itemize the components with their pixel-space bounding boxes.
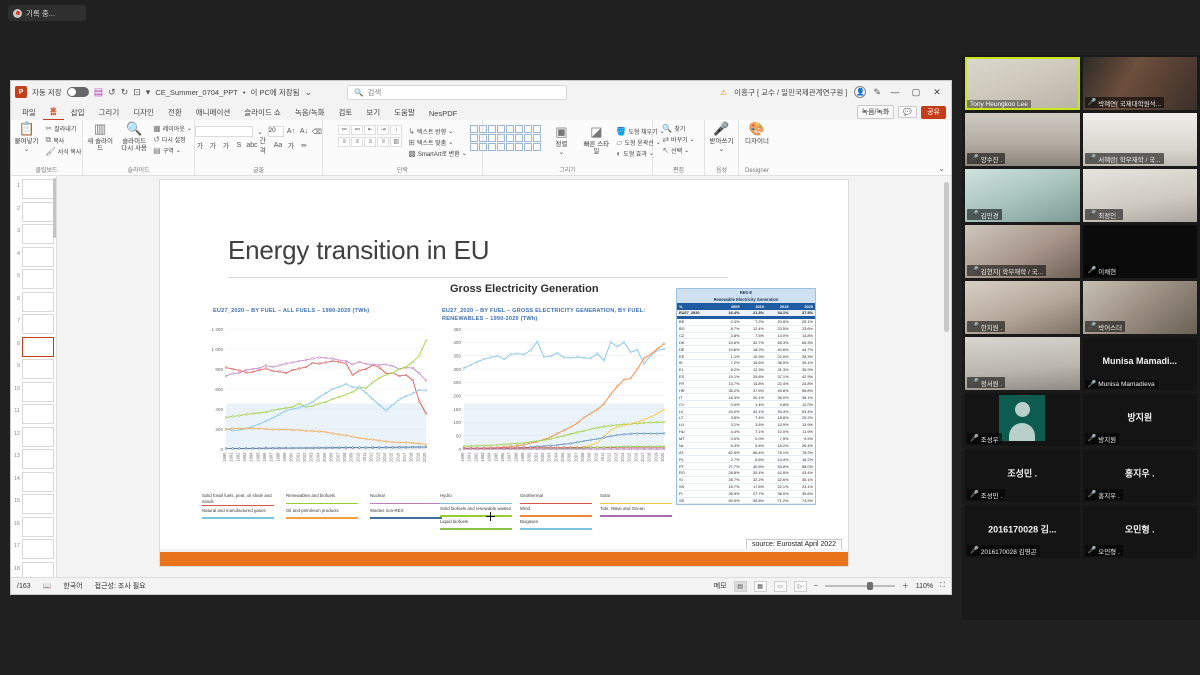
thumbnail-preview xyxy=(22,269,54,289)
align-buttons: ≡ ≡ ≡ ≡ ▥ xyxy=(338,137,402,147)
slide-scrollbar[interactable] xyxy=(943,176,950,577)
align-text-chevron-icon[interactable]: ⌄ xyxy=(448,139,453,146)
table-cell: 28.7% xyxy=(717,476,742,483)
autosave-toggle[interactable] xyxy=(67,87,89,97)
pen-icon[interactable]: ✎ xyxy=(873,87,881,98)
table-cell: CZ xyxy=(677,332,717,339)
fit-to-window-button[interactable]: ⛶ xyxy=(940,582,945,590)
table-cell: LT xyxy=(677,415,717,422)
participant-tile[interactable]: 2016170028 김...🎤2016170028 김영곤 xyxy=(965,505,1080,558)
magnifier-icon: 🔍 xyxy=(662,124,672,133)
legend-swatch xyxy=(202,505,274,506)
chart-all-fuels: 02004006008001 0001 20019901991199219931… xyxy=(200,323,430,483)
slide-thumbnail-8[interactable]: 8 xyxy=(13,337,54,357)
legend-swatch xyxy=(520,503,592,504)
zoom-out-button[interactable]: − xyxy=(814,583,818,590)
slide-thumbnail-9[interactable]: 9 xyxy=(13,359,54,379)
slide-thumbnail-10[interactable]: 10 xyxy=(13,382,54,402)
table-cell: 28.8% xyxy=(717,470,742,477)
table-cell: 15.7% xyxy=(717,483,742,490)
convert-smartart-button[interactable]: ▩ SmartArt로 변환 ⌄ xyxy=(408,149,467,158)
slide-thumbnail-2[interactable]: 2 xyxy=(13,202,54,222)
slide-thumbnail-5[interactable]: 5 xyxy=(13,269,54,289)
participant-tile[interactable]: 방지원🎤방지원 xyxy=(1083,393,1198,446)
participant-tile[interactable]: 조성민 .🎤조성민 . xyxy=(965,449,1080,502)
svg-text:1991: 1991 xyxy=(467,452,472,462)
table-cell: 35.2% xyxy=(717,387,742,394)
slide-thumbnail-pane[interactable]: 123456789101112131415161718 xyxy=(11,176,57,577)
legend-renewables: HydroGeothermalSolarSolid biofuels and r… xyxy=(440,493,672,530)
cut-button[interactable]: ✂ 잘라내기 xyxy=(46,124,82,133)
participant-display-name: 2016170028 김... xyxy=(965,522,1080,535)
table-cell: 9.8% xyxy=(766,401,791,408)
strikethrough-button[interactable]: abc xyxy=(247,140,258,151)
tab-transitions[interactable]: 전환 xyxy=(161,106,189,120)
bold-button[interactable]: 가 xyxy=(195,140,206,151)
svg-text:1992: 1992 xyxy=(235,452,240,462)
legend-swatch xyxy=(286,503,358,504)
find-button[interactable]: 🔍 찾기 xyxy=(662,124,694,133)
table-cell: 3.2% xyxy=(717,421,742,428)
smartart-chevron-icon[interactable]: ⌄ xyxy=(462,150,467,157)
participant-tile[interactable]: Munisa Mamadi...🎤Munisa Mamadieva xyxy=(1083,337,1198,390)
table-cell: 31.3% xyxy=(766,366,791,373)
decrease-font-size-button[interactable]: A↓ xyxy=(299,126,310,137)
svg-text:2014: 2014 xyxy=(382,452,387,462)
thumbnail-preview xyxy=(22,404,54,424)
replace-icon: ⇄ xyxy=(662,135,669,144)
view-normal-button[interactable]: ▤ xyxy=(734,581,747,592)
participant-display-name: 방지원 xyxy=(1083,410,1198,423)
svg-text:2015: 2015 xyxy=(627,452,632,462)
replace-button[interactable]: ⇄ 바꾸기 ⌄ xyxy=(662,135,694,144)
svg-text:2003: 2003 xyxy=(309,452,314,462)
clear-formatting-button[interactable]: ⌫ xyxy=(312,126,323,137)
legend-item: Liquid biofuels xyxy=(440,519,512,530)
columns-button[interactable]: ▥ xyxy=(390,137,402,147)
participant-nametag: Tony Heungkoo Lee xyxy=(967,100,1031,108)
section-chevron-icon[interactable]: ⌄ xyxy=(176,147,181,154)
legend-label: Solid biofuels and renewable wastes xyxy=(440,506,512,515)
table-row: FI26.9%27.7%38.0%39.6% xyxy=(677,490,815,497)
justify-button[interactable]: ≡ xyxy=(377,137,389,147)
text-direction-chevron-icon[interactable]: ⌄ xyxy=(448,128,453,135)
muted-mic-icon: 🎤 xyxy=(1088,547,1097,554)
shape-outline-icon: ▱ xyxy=(616,138,622,147)
legend-item: Renewables and biofuels xyxy=(286,493,358,506)
tab-review[interactable]: 검토 xyxy=(332,106,360,120)
table-row: SI28.7%32.2%32.6%35.1% xyxy=(677,476,815,483)
text-direction-label: 텍스트 방향 xyxy=(417,127,446,136)
present-icon[interactable]: ⊡ xyxy=(133,87,141,98)
svg-text:2020: 2020 xyxy=(422,452,427,462)
align-center-button[interactable]: ≡ xyxy=(351,137,363,147)
slide-thumbnail-1[interactable]: 1 xyxy=(13,179,54,199)
participant-tile[interactable]: 🎤김민경 xyxy=(965,169,1080,222)
status-bar-right: 메모 ▤ ▦ ▭ ▷ − ＋ 110% ⛶ xyxy=(714,581,945,592)
align-right-button[interactable]: ≡ xyxy=(364,137,376,147)
table-cell: BG xyxy=(677,325,717,332)
table-cell: 27.7% xyxy=(741,490,766,497)
table-cell: 55.8% xyxy=(790,387,815,394)
quick-styles-button[interactable]: ◪ 빠른 스타일 xyxy=(581,125,611,156)
thumbnail-number: 13 xyxy=(13,449,20,459)
legend-swatch xyxy=(600,503,672,504)
table-cell: 10.3% xyxy=(741,353,766,360)
participant-display-name: Munisa Mamadi... xyxy=(1083,356,1198,366)
legend-item: Wind xyxy=(520,506,592,517)
tab-draw[interactable]: 그리기 xyxy=(92,106,127,120)
slide-thumbnail-14[interactable]: 14 xyxy=(13,472,54,492)
maximize-button[interactable]: ▢ xyxy=(909,87,923,98)
layout-chevron-icon[interactable]: ⌄ xyxy=(187,125,192,132)
svg-text:2010: 2010 xyxy=(593,452,598,462)
legend-swatch xyxy=(520,528,592,529)
voice-group-label: 음성 xyxy=(705,165,738,174)
table-title-line2: Renewable Electricity Generation xyxy=(677,296,815,303)
thumbnail-number: 9 xyxy=(13,359,20,369)
slide-thumbnail-12[interactable]: 12 xyxy=(13,427,54,447)
participant-tile[interactable]: 🎤정서원 . xyxy=(965,337,1080,390)
slide-thumbnail-6[interactable]: 6 xyxy=(13,292,54,312)
res-e-table[interactable]: RES-E Renewable Electricity Generation %… xyxy=(676,288,816,505)
participant-nametag: 🎤양수진 . xyxy=(967,153,1005,164)
reuse-slides-button[interactable]: 🔍 슬라이드 다시 사용 xyxy=(119,122,149,153)
table-col-3: 2019 xyxy=(766,303,791,310)
participant-name: 방지원 xyxy=(1098,434,1116,444)
table-cell: 18.2% xyxy=(766,442,791,449)
res-e-table-inner: RES-E Renewable Electricity Generation %… xyxy=(677,289,815,504)
table-cell: 37.5% xyxy=(741,387,766,394)
svg-text:250: 250 xyxy=(453,380,461,385)
svg-text:2017: 2017 xyxy=(640,452,645,462)
reset-button[interactable]: ↺ 다시 설정 xyxy=(153,135,192,144)
tab-help[interactable]: 도움말 xyxy=(387,106,422,120)
svg-text:2016: 2016 xyxy=(633,452,638,462)
svg-text:1 200: 1 200 xyxy=(212,327,224,332)
table-cell: 40.6% xyxy=(766,346,791,353)
layout-button[interactable]: ▦ 레이아웃 ⌄ xyxy=(153,124,192,133)
thumbnail-preview xyxy=(22,224,54,244)
table-cell: 18.2% xyxy=(741,346,766,353)
change-case-button[interactable]: Aa xyxy=(273,140,284,151)
table-cell: 32.6% xyxy=(766,476,791,483)
status-bar: /163 📖 한국어 접근성: 조사 필요 메모 ▤ ▦ ▭ ▷ − ＋ 110… xyxy=(11,577,951,594)
undo-icon[interactable]: ↺ xyxy=(108,87,116,98)
select-chevron-icon[interactable]: ⌄ xyxy=(684,147,689,154)
table-cell: 6.6% xyxy=(741,456,766,463)
participant-tile[interactable]: 홍지우 .🎤홍지우 . xyxy=(1083,449,1198,502)
table-cell: 38.0% xyxy=(766,490,791,497)
zoom-in-button[interactable]: ＋ xyxy=(902,581,909,591)
increase-font-size-button[interactable]: A↑ xyxy=(286,126,297,137)
table-cell: 16.3% xyxy=(717,394,742,401)
view-sorter-button[interactable]: ▦ xyxy=(754,581,767,592)
thumbnail-preview xyxy=(22,359,54,379)
svg-text:450: 450 xyxy=(453,327,461,332)
tab-animations[interactable]: 애니메이션 xyxy=(189,106,238,120)
copy-button[interactable]: ⧉ 복사 xyxy=(46,135,82,145)
reuse-slides-icon: 🔍 xyxy=(126,122,142,137)
shadow-button[interactable]: S xyxy=(234,140,245,151)
participant-nametag: 🎤2016170028 김영곤 xyxy=(967,545,1040,556)
legend-item: Geothermal xyxy=(520,493,592,504)
participant-name: 김현지[ 학부재학 / 국... xyxy=(981,266,1043,276)
text-highlight-button[interactable]: ✏ xyxy=(299,140,310,151)
arrange-chevron-icon[interactable]: ⌄ xyxy=(559,149,564,156)
character-spacing-button[interactable]: 간격 xyxy=(260,140,271,151)
accessibility-status[interactable]: 접근성: 조사 필요 xyxy=(95,581,146,591)
ribbon-group-clipboard: 📋 붙여넣기 ⌄ ✂ 잘라내기 ⧉ 복사 xyxy=(11,120,83,175)
new-slide-button[interactable]: ▥ 새 슬라이드 xyxy=(85,122,115,153)
cut-label: 잘라내기 xyxy=(54,124,76,133)
svg-text:1992: 1992 xyxy=(473,452,478,462)
thumbnail-number: 12 xyxy=(13,427,20,437)
document-menu-chevron-icon[interactable]: ⌄ xyxy=(305,87,313,98)
table-cell: 11.9% xyxy=(790,428,815,435)
table-cell: 29.8% xyxy=(741,373,766,380)
table-cell: 62.9% xyxy=(717,449,742,456)
arrange-button[interactable]: ▣ 정렬 ⌄ xyxy=(546,125,576,157)
autosave-label: 자동 저장 xyxy=(32,87,62,98)
table-cell: 26.9% xyxy=(717,490,742,497)
svg-text:150: 150 xyxy=(453,407,461,412)
table-cell: 17.8% xyxy=(741,483,766,490)
thumbnail-preview xyxy=(22,427,54,447)
slide-accent-band xyxy=(160,552,848,566)
svg-text:2014: 2014 xyxy=(620,452,625,462)
table-row: ES19.1%29.8%37.1%42.9% xyxy=(677,373,815,380)
view-slideshow-button[interactable]: ▷ xyxy=(794,581,807,592)
table-cell: 1.1% xyxy=(717,353,742,360)
legend-swatch xyxy=(370,517,442,518)
notes-button[interactable]: 메모 xyxy=(714,581,727,591)
participant-tile[interactable]: 🎤한지원 . xyxy=(965,281,1080,334)
table-row: CY0.0%1.4%9.8%12.0% xyxy=(677,401,815,408)
decrease-indent-button[interactable]: ⇤ xyxy=(364,125,376,135)
svg-text:2007: 2007 xyxy=(573,452,578,462)
participant-tile[interactable]: 🎤양수진 . xyxy=(965,113,1080,166)
svg-text:2020: 2020 xyxy=(660,452,665,462)
thumbnail-number: 17 xyxy=(13,539,20,549)
record-button[interactable]: 녹음/녹화 xyxy=(857,105,895,119)
shapes-gallery[interactable] xyxy=(470,125,541,151)
participant-tile[interactable]: 🎤박어스더 xyxy=(1083,281,1198,334)
increase-indent-button[interactable]: ⇥ xyxy=(377,125,389,135)
paste-chevron-icon[interactable]: ⌄ xyxy=(24,146,29,153)
select-button[interactable]: ↖ 선택 ⌄ xyxy=(662,146,694,155)
zoom-participant-rail: Tony Heungkoo Lee🎤박혜연[ 국제대학원석...🎤양수진 .🎤서… xyxy=(962,55,1200,620)
replace-chevron-icon[interactable]: ⌄ xyxy=(690,136,695,143)
font-name-input[interactable] xyxy=(195,126,253,137)
slide-thumbnail-11[interactable]: 11 xyxy=(13,404,54,424)
align-left-button[interactable]: ≡ xyxy=(338,137,350,147)
table-cell: 49.8% xyxy=(766,387,791,394)
participant-tile[interactable]: 🎤서혜란[ 학부재학 / 국... xyxy=(1083,113,1198,166)
designer-icon: 🎨 xyxy=(749,122,765,137)
table-cell: 42.1% xyxy=(741,408,766,415)
table-cell: 12.4% xyxy=(741,325,766,332)
legend-swatch xyxy=(600,515,672,516)
ribbon-group-editing: 🔍 찾기 ⇄ 바꾸기 ⌄ ↖ 선택 ⌄ xyxy=(653,120,705,175)
tab-view[interactable]: 보기 xyxy=(359,106,387,120)
table-cell: 36.5% xyxy=(766,360,791,367)
recording-indicator[interactable]: 기록 중... xyxy=(8,5,86,21)
ribbon-group-slides: ▥ 새 슬라이드 🔍 슬라이드 다시 사용 ▦ 레이아웃 ⌄ xyxy=(83,120,195,175)
paste-label: 붙여넣기 xyxy=(15,138,39,145)
table-row: DK24.6%32.7%65.3%65.3% xyxy=(677,339,815,346)
svg-text:2018: 2018 xyxy=(647,452,652,462)
participant-tile[interactable]: 오민형 .🎤오민형 . xyxy=(1083,505,1198,558)
smartart-label: SmartArt로 변환 xyxy=(418,149,460,158)
participant-tile[interactable]: 🎤박혜연[ 국제대학원석... xyxy=(1083,57,1198,110)
svg-text:2012: 2012 xyxy=(369,452,374,462)
table-cell: 20.2% xyxy=(790,415,815,422)
spellcheck-icon[interactable]: 📖 xyxy=(43,582,52,590)
tab-insert[interactable]: 삽입 xyxy=(64,106,92,120)
slide-thumbnail-17[interactable]: 17 xyxy=(13,539,54,559)
legend-item: Oil and petroleum products xyxy=(286,508,358,519)
muted-mic-icon: 🎤 xyxy=(1088,267,1097,274)
numbered-list-button[interactable]: ≕ xyxy=(351,125,363,135)
italic-button[interactable]: 가 xyxy=(208,140,219,151)
participant-name: 정서원 . xyxy=(981,378,1003,388)
smartart-icon: ▩ xyxy=(408,149,416,158)
scissors-icon: ✂ xyxy=(46,124,53,133)
participant-nametag: 🎤오민형 . xyxy=(1085,545,1123,556)
underline-button[interactable]: 가 xyxy=(221,140,232,151)
table-body: BE2.4%7.2%20.8%25.1%BG8.7%12.4%23.5%23.6… xyxy=(677,319,815,504)
participant-nametag: 🎤서혜란[ 학부재학 / 국... xyxy=(1085,153,1164,164)
participant-tile[interactable]: 🎤이채현 xyxy=(1083,225,1198,278)
close-button[interactable]: ✕ xyxy=(930,87,944,98)
tab-home[interactable]: 홈 xyxy=(43,105,64,120)
svg-text:2001: 2001 xyxy=(533,452,538,462)
tab-slideshow[interactable]: 슬라이드 쇼 xyxy=(237,106,288,120)
thumbnail-number: 8 xyxy=(13,337,20,347)
thumbnail-preview xyxy=(22,292,54,312)
table-cell: 65.3% xyxy=(790,339,815,346)
table-cell: 66.4% xyxy=(741,449,766,456)
legend-swatch xyxy=(202,517,274,518)
save-icon[interactable]: ▤ xyxy=(94,87,103,98)
more-commands-icon[interactable]: ▾ xyxy=(146,87,151,98)
participant-tile[interactable]: 🎤김현지[ 학부재학 / 국... xyxy=(965,225,1080,278)
bullet-list-button[interactable]: ≔ xyxy=(338,125,350,135)
participant-name: 서혜란[ 학부재학 / 국... xyxy=(1098,154,1160,164)
thumbnail-scrollbar[interactable] xyxy=(53,178,56,238)
svg-text:2018: 2018 xyxy=(409,452,414,462)
thumbnail-preview xyxy=(22,179,54,199)
collapse-ribbon-button[interactable]: ⌄ xyxy=(932,164,951,175)
legend-label: Geothermal xyxy=(520,493,592,502)
table-cell: LV xyxy=(677,408,717,415)
participant-tile[interactable]: Tony Heungkoo Lee xyxy=(965,57,1080,110)
align-text-button[interactable]: ⊞ 텍스트 맞춤 ⌄ xyxy=(408,138,467,147)
muted-mic-icon: 🎤 xyxy=(970,547,979,554)
tab-file[interactable]: 파일 xyxy=(15,106,43,120)
slide-thumbnail-18[interactable]: 18 xyxy=(13,562,54,578)
table-cell: 55.8% xyxy=(741,497,766,504)
slide-thumbnail-13[interactable]: 13 xyxy=(13,449,54,469)
muted-mic-icon: 🎤 xyxy=(1088,381,1097,388)
slide-thumbnail-4[interactable]: 4 xyxy=(13,247,54,267)
table-cell: PT xyxy=(677,463,717,470)
tab-record[interactable]: 녹음/녹화 xyxy=(288,106,332,120)
participant-tile[interactable]: 🎤조성우 xyxy=(965,393,1080,446)
font-color-button[interactable]: 가 xyxy=(286,140,297,151)
participant-display-name: 오민형 . xyxy=(1083,522,1198,535)
legend-label: Oil and petroleum products xyxy=(286,508,358,517)
muted-mic-icon: 🎤 xyxy=(970,379,979,386)
svg-text:2002: 2002 xyxy=(540,452,545,462)
zoom-slider[interactable] xyxy=(825,585,895,587)
table-cell: 2.7% xyxy=(717,456,742,463)
share-button[interactable]: 공유 xyxy=(921,106,946,119)
text-direction-button[interactable]: ↳ 텍스트 방향 ⌄ xyxy=(408,127,467,136)
svg-text:2000: 2000 xyxy=(527,452,532,462)
language-label[interactable]: 한국어 xyxy=(63,581,82,591)
slide-thumbnail-16[interactable]: 16 xyxy=(13,517,54,537)
legend-item: Solid fossil fuels, peat, oil shale and … xyxy=(202,493,274,506)
dictate-button[interactable]: 🎤 받아쓰기 ⌄ xyxy=(707,122,737,154)
thumbnail-number: 10 xyxy=(13,382,20,392)
powerpoint-logo-icon: P xyxy=(15,86,27,98)
redo-icon[interactable]: ↻ xyxy=(121,87,129,98)
line-spacing-button[interactable]: ↕ xyxy=(390,125,402,135)
tab-nespdf[interactable]: NesPDF xyxy=(422,108,464,120)
dictate-chevron-icon[interactable]: ⌄ xyxy=(719,146,724,153)
filename-separator: • xyxy=(243,88,246,97)
replace-label: 바꾸기 xyxy=(671,135,688,144)
svg-text:2013: 2013 xyxy=(375,452,380,462)
paste-button[interactable]: 📋 붙여넣기 ⌄ xyxy=(12,122,42,154)
slide-thumbnail-15[interactable]: 15 xyxy=(13,494,54,514)
participant-nametag: 🎤Munisa Mamadieva xyxy=(1085,380,1158,388)
svg-text:2000: 2000 xyxy=(289,452,294,462)
svg-text:800: 800 xyxy=(215,367,223,372)
participant-nametag: 🎤한지원 . xyxy=(967,321,1005,332)
slide-thumbnail-7[interactable]: 7 xyxy=(13,314,54,334)
legend-label: Natural and manufactured gases xyxy=(202,508,274,517)
account-avatar-icon[interactable]: 👤 xyxy=(854,86,866,98)
designer-button[interactable]: 🎨 디자이너 xyxy=(742,122,772,145)
participant-tile[interactable]: 🎤최정인 . xyxy=(1083,169,1198,222)
participant-display-name: 조성민 . xyxy=(965,466,1080,479)
slide-canvas[interactable]: Energy transition in EU Gross Electricit… xyxy=(159,179,849,567)
tab-design[interactable]: 디자인 xyxy=(126,106,161,120)
table-row: AT62.9%66.4%75.1%78.2% xyxy=(677,449,815,456)
svg-text:50: 50 xyxy=(456,433,462,438)
legend-label: Biogases xyxy=(520,519,592,528)
table-cell: 44.7% xyxy=(790,346,815,353)
svg-text:400: 400 xyxy=(453,340,461,345)
svg-text:1991: 1991 xyxy=(229,452,234,462)
search-input[interactable]: 🔍 검색 xyxy=(347,85,567,100)
view-reading-button[interactable]: ▭ xyxy=(774,581,787,592)
format-painter-button[interactable]: 🖌 서식 복사 xyxy=(46,147,82,156)
slide-thumbnail-3[interactable]: 3 xyxy=(13,224,54,244)
section-button[interactable]: ▤ 구역 ⌄ xyxy=(153,146,192,155)
table-cell: MT xyxy=(677,435,717,442)
table-col-0: % xyxy=(677,303,717,310)
table-cell: IE xyxy=(677,360,717,367)
ribbon-tab-bar-right: 녹음/녹화 💬 공유 xyxy=(857,105,951,120)
comments-button[interactable]: 💬 xyxy=(898,106,917,118)
record-icon xyxy=(13,9,22,18)
table-cell: 24.8% xyxy=(790,380,815,387)
minimize-button[interactable]: — xyxy=(888,87,902,97)
